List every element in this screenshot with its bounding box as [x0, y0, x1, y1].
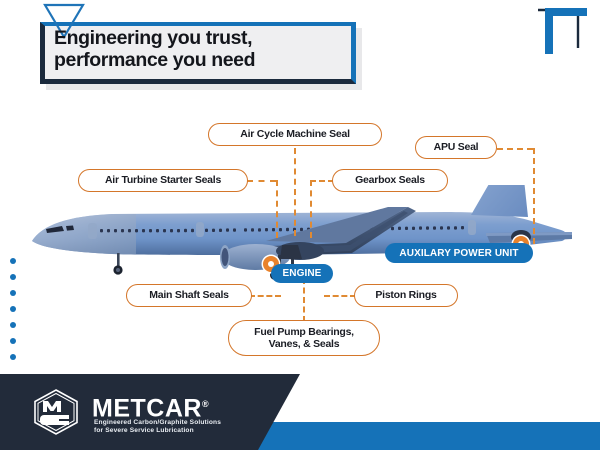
- dot: [10, 338, 16, 344]
- callout-apu-seal-label: APU Seal: [434, 141, 479, 154]
- brand-tagline-line-2: for Severe Service Lubrication: [94, 427, 221, 435]
- callout-piston-rings[interactable]: Piston Rings: [354, 284, 458, 307]
- connector-apu-seal-h: [497, 148, 533, 150]
- dot: [10, 322, 16, 328]
- section-pill-engine[interactable]: ENGINE: [271, 264, 333, 283]
- corner-bracket-icon: [530, 4, 594, 60]
- brand-tagline: Engineered Carbon/Graphite Solutions for…: [94, 419, 221, 436]
- callout-air-cycle-machine-seal-label: Air Cycle Machine Seal: [240, 128, 349, 141]
- callout-gearbox-seals-label: Gearbox Seals: [355, 174, 425, 187]
- connector-fuel-pump-bearings: [303, 278, 305, 322]
- connector-air-turbine-starter-seals-h: [247, 180, 276, 182]
- callout-fuel-pump-bearings[interactable]: Fuel Pump Bearings, Vanes, & Seals: [228, 320, 380, 356]
- title-line-2: performance you need: [54, 49, 354, 71]
- connector-air-cycle-machine-seal: [294, 148, 296, 236]
- connector-piston-rings: [324, 295, 356, 297]
- callout-piston-rings-label: Piston Rings: [375, 289, 436, 302]
- callout-apu-seal[interactable]: APU Seal: [415, 136, 497, 159]
- connector-gearbox-seals-h: [310, 180, 334, 182]
- brand-tagline-line-1: Engineered Carbon/Graphite Solutions: [94, 419, 221, 427]
- callout-main-shaft-seals-label: Main Shaft Seals: [149, 289, 228, 302]
- registered-mark: ®: [202, 399, 209, 409]
- callout-gearbox-seals[interactable]: Gearbox Seals: [332, 169, 448, 192]
- callout-main-shaft-seals[interactable]: Main Shaft Seals: [126, 284, 252, 307]
- callout-air-turbine-starter-seals[interactable]: Air Turbine Starter Seals: [78, 169, 248, 192]
- callout-air-turbine-starter-seals-label: Air Turbine Starter Seals: [105, 174, 221, 187]
- footer-bar: [0, 374, 600, 450]
- connector-apu-seal-v: [533, 148, 535, 244]
- dot: [10, 354, 16, 360]
- callout-fuel-pump-bearings-line-1: Fuel Pump Bearings,: [254, 326, 354, 339]
- section-pill-apu-label: AUXILARY POWER UNIT: [399, 248, 518, 259]
- callout-fuel-pump-bearings-line-2: Vanes, & Seals: [269, 338, 340, 351]
- section-pill-engine-label: ENGINE: [283, 268, 322, 279]
- connector-main-shaft-seals: [249, 295, 281, 297]
- metcar-hexagon-logo: [30, 388, 82, 436]
- slide-canvas: Engineering you trust, performance you n…: [0, 0, 600, 450]
- connector-gearbox-seals-v: [310, 180, 312, 238]
- dot: [10, 306, 16, 312]
- connector-air-turbine-starter-seals-v: [276, 180, 278, 238]
- section-pill-auxilary-power-unit[interactable]: AUXILARY POWER UNIT: [385, 243, 533, 263]
- brand-wordmark: METCAR®: [92, 392, 209, 421]
- callout-air-cycle-machine-seal[interactable]: Air Cycle Machine Seal: [208, 123, 382, 146]
- page-title: Engineering you trust, performance you n…: [54, 27, 354, 71]
- title-line-1: Engineering you trust,: [54, 27, 252, 49]
